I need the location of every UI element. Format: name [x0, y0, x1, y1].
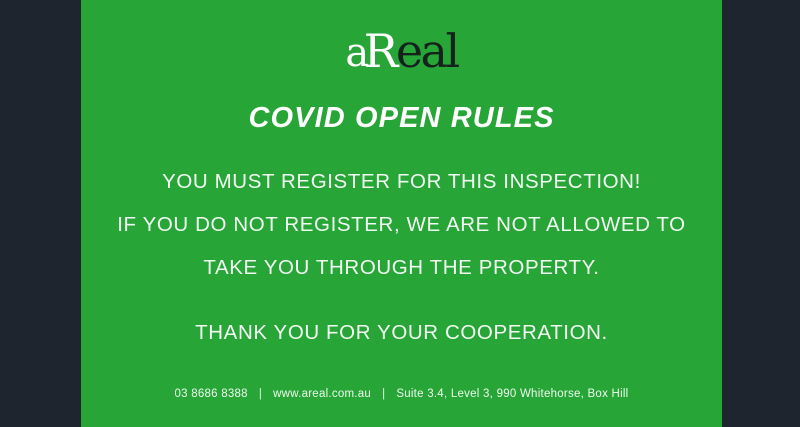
- page-title: COVID OPEN RULES: [248, 104, 554, 133]
- body-line-3: TAKE YOU THROUGH THE PROPERTY.: [81, 246, 722, 289]
- body-line-4: THANK YOU FOR YOUR COOPERATION.: [81, 311, 722, 354]
- areal-logo: aReal: [345, 28, 457, 80]
- footer-website[interactable]: www.areal.com.au: [273, 388, 371, 400]
- logo-letter-a: a: [345, 33, 366, 73]
- footer-phone: 03 8686 8388: [174, 388, 247, 400]
- logo-letter-r: R: [364, 28, 396, 74]
- body-line-2: IF YOU DO NOT REGISTER, WE ARE NOT ALLOW…: [81, 203, 722, 246]
- body-text-block: YOU MUST REGISTER FOR THIS INSPECTION! I…: [81, 160, 722, 354]
- footer-address: Suite 3.4, Level 3, 990 Whitehorse, Box …: [396, 388, 628, 400]
- footer-contact-bar: 03 8686 8388|www.areal.com.au|Suite 3.4,…: [81, 388, 722, 400]
- footer-separator-1: |: [248, 388, 273, 400]
- screen-root: aReal COVID OPEN RULES YOU MUST REGISTER…: [0, 0, 800, 427]
- footer-separator-2: |: [371, 388, 396, 400]
- body-line-1: YOU MUST REGISTER FOR THIS INSPECTION!: [81, 160, 722, 203]
- logo-letters-eal: eal: [396, 28, 458, 74]
- covid-rules-poster: aReal COVID OPEN RULES YOU MUST REGISTER…: [81, 0, 722, 427]
